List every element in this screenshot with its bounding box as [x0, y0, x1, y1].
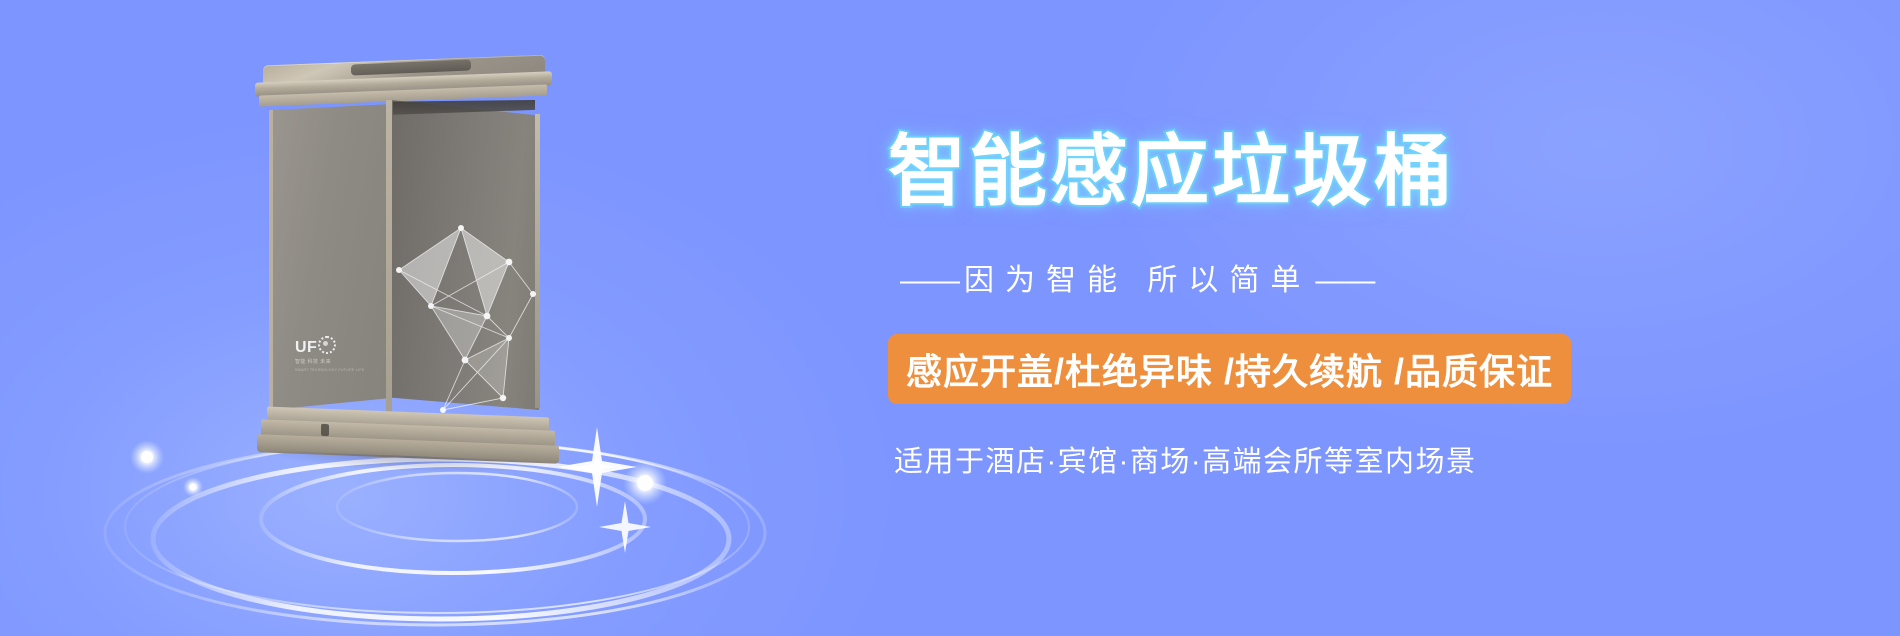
marketing-copy-block: 智能感应垃圾桶 ——因为智能 所以简单—— 感应开盖/杜绝异味 /持久续航 /品…: [888, 0, 1708, 636]
product-promo-banner: UF 智能 科技 未来 SMART TECHNOLOGY FUTURE LIFE: [0, 0, 1900, 636]
usage-scenario-text: 适用于酒店·宾馆·商场·高端会所等室内场景: [894, 438, 1476, 480]
brand-logo-subtext-en: SMART TECHNOLOGY FUTURE LIFE: [295, 368, 373, 372]
product-image-smart-trash-bin: UF 智能 科技 未来 SMART TECHNOLOGY FUTURE LIFE: [255, 60, 565, 480]
banner-title: 智能感应垃圾桶: [888, 128, 1455, 214]
brand-logo-subtext: 智能 科技 未来: [295, 358, 373, 365]
base-slot: [321, 424, 329, 436]
brand-logo: UF 智能 科技 未来 SMART TECHNOLOGY FUTURE LIFE: [295, 336, 373, 382]
sparkle-star: [557, 427, 637, 507]
polygon-network-graphic: [391, 220, 541, 416]
banner-subtitle: ——因为智能 所以简单——: [896, 255, 1379, 299]
logo-ring-icon: [318, 336, 336, 354]
subtitle-text: 因为智能 所以简单: [964, 264, 1311, 297]
subtitle-dash-right: ——: [1311, 264, 1379, 298]
subtitle-dash-left: ——: [896, 264, 964, 298]
brand-logo-text: UF: [295, 336, 373, 356]
bin-panel-left: UF 智能 科技 未来 SMART TECHNOLOGY FUTURE LIFE: [269, 104, 393, 410]
feature-highlight-badge: 感应开盖/杜绝异味 /持久续航 /品质保证: [888, 334, 1571, 404]
bin-body: UF 智能 科技 未来 SMART TECHNOLOGY FUTURE LIFE: [269, 100, 539, 418]
bin-lid: [255, 60, 552, 94]
sparkle-star-small: [599, 501, 651, 553]
bin-base: [257, 412, 557, 482]
